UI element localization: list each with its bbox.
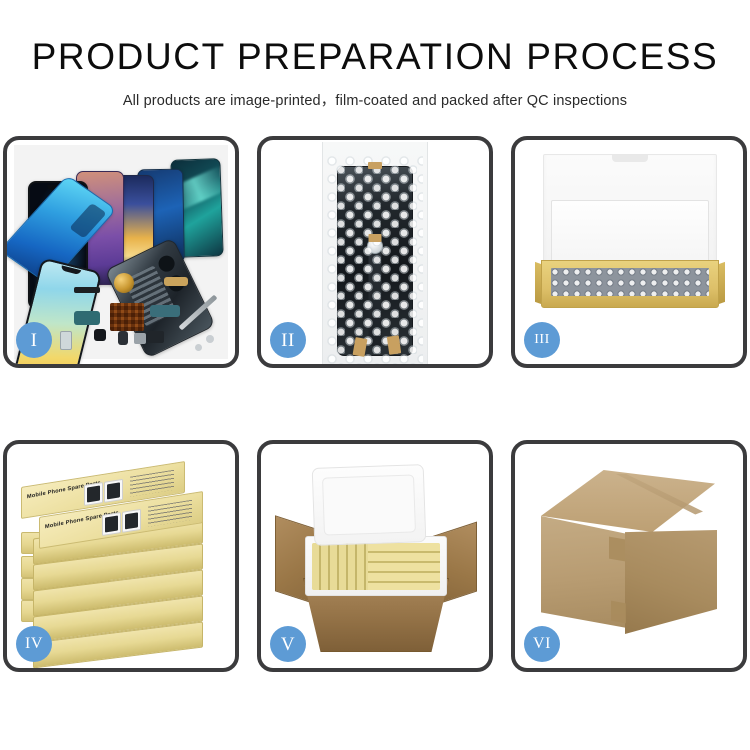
step-badge-2: II: [270, 322, 306, 358]
step-badge-4: IV: [16, 626, 52, 662]
carton-side-face: [625, 530, 717, 634]
chip-array-icon: [110, 303, 144, 331]
box-window-middle-b: [122, 509, 141, 533]
flex-cable-b-icon: [150, 305, 180, 317]
carton-tape-lower: [611, 601, 626, 624]
step-badge-6: VI: [524, 626, 560, 662]
speaker-part-icon: [114, 273, 134, 293]
poly-bag: [322, 142, 428, 364]
step-panel-5[interactable]: V: [257, 440, 493, 672]
connector-strip-icon: [74, 287, 100, 293]
bubble-wrap-fill: [551, 268, 709, 296]
step-panel-6[interactable]: VI: [511, 440, 747, 672]
page-header: PRODUCT PREPARATION PROCESS All products…: [0, 0, 750, 110]
step-panel-2[interactable]: II: [257, 136, 493, 368]
tape-bottom-right: [387, 335, 401, 354]
step-badge-1: I: [16, 322, 52, 358]
box-window-top-a: [84, 482, 103, 506]
retail-boxes-inside: [312, 543, 440, 590]
bubble-wrap-texture: [327, 156, 423, 364]
box-feature-list-middle: [148, 500, 192, 527]
carton-tape-upper: [609, 537, 625, 562]
button-part-icon: [118, 331, 128, 345]
sim-card-icon: [60, 331, 72, 350]
box-window-top-b: [104, 479, 123, 503]
step-badge-3: III: [524, 322, 560, 358]
tape-middle: [369, 234, 382, 242]
screw-a-icon: [206, 335, 214, 343]
foam-box-lid: [312, 464, 427, 546]
camera-module-icon: [94, 329, 106, 341]
process-steps-grid: I II III: [0, 136, 750, 696]
step-panel-4[interactable]: Mobile Phone Spare Parts Mobile Phone Sp…: [3, 440, 239, 672]
step-panel-3[interactable]: III: [511, 136, 747, 368]
page-subtitle: All products are image-printed，film-coat…: [0, 89, 750, 110]
step-panel-1[interactable]: I: [3, 136, 239, 368]
page-title: PRODUCT PREPARATION PROCESS: [0, 38, 750, 77]
box-feature-list-top: [130, 470, 174, 497]
screw-b-icon: [195, 344, 202, 351]
speaker-box-icon: [148, 331, 164, 343]
box-window-middle-a: [102, 512, 121, 536]
flex-cable-c-icon: [74, 311, 100, 325]
sim-tray-icon: [134, 333, 146, 344]
step-badge-5: V: [270, 626, 306, 662]
flex-cable-a-icon: [164, 277, 188, 286]
tape-top: [368, 162, 382, 169]
